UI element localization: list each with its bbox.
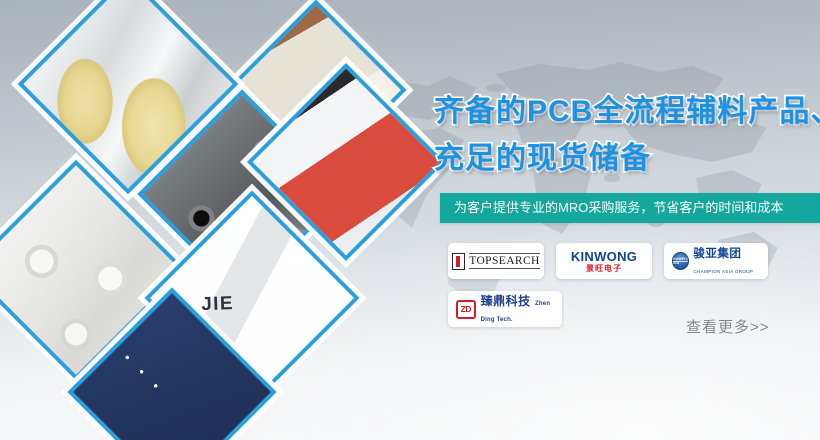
logo-zhen-ding-chinese: 臻鼎科技 [481,294,531,308]
partner-logo-row-2: ZD 臻鼎科技 Zhen Ding Tech. [448,291,562,327]
subtitle-bar: 为客户提供专业的MRO采购服务，节省客户的时间和成本 [440,193,820,223]
logo-champion-asia-chinese: 骏亚集团 [693,248,741,260]
logo-kinwong-label: KINWONG [571,250,637,263]
logo-topsearch-label: TOPSEARCH [469,253,540,269]
logo-card-champion-asia[interactable]: CHAMPION ASIA 骏亚集团 CHAMPION ASIA GROUP [664,243,768,279]
product-photo-collage: JIE [0,0,410,440]
partner-logo-row-1: TOPSEARCH KINWONG 景旺电子 CHAMPION ASIA 骏亚集… [448,243,768,279]
zhen-ding-mark-icon: ZD [456,300,476,319]
promo-banner: JIE 齐备的PCB全流程辅料产品、 充足的现货储备 为客户提供专业的MRO采购… [0,0,820,440]
logo-card-kinwong[interactable]: KINWONG 景旺电子 [556,243,652,279]
logo-card-zhen-ding[interactable]: ZD 臻鼎科技 Zhen Ding Tech. [448,291,562,327]
photo-paper-brand-text: JIE [202,291,235,314]
headline-line-2: 充足的现货储备 [434,135,820,182]
logo-card-topsearch[interactable]: TOPSEARCH [448,243,544,279]
champion-asia-globe-icon: CHAMPION ASIA [672,252,689,270]
headline-line-1: 齐备的PCB全流程辅料产品、 [434,88,820,135]
topsearch-mark-icon [452,253,465,270]
logo-kinwong-chinese: 景旺电子 [571,265,637,273]
globe-label: CHAMPION ASIA [672,257,689,265]
logo-champion-asia-english: CHAMPION ASIA GROUP [693,269,753,274]
view-more-link[interactable]: 查看更多>> [686,316,770,337]
headline: 齐备的PCB全流程辅料产品、 充足的现货储备 [434,88,820,182]
